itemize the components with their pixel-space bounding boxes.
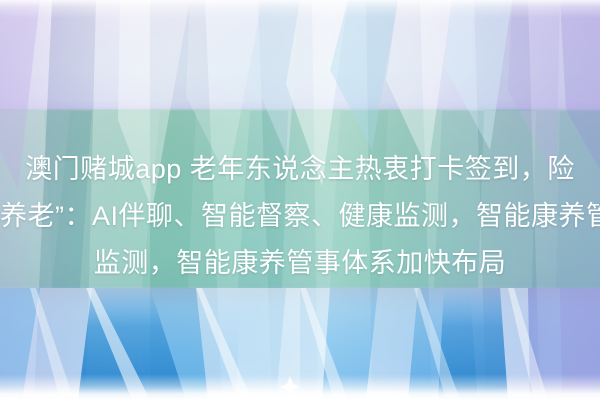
caption-line-3: 监测，智能康养管事体系加快布局 [0,250,600,277]
caption-line-2: 养老”：AI伴聊、智能督察、健康监测，智能康养管事 [0,203,600,230]
caption-overlay: 澳门赌城app 老年东说念主热衷打卡签到，险 养老”：AI伴聊、智能督察、健康监… [0,0,600,400]
caption-line-1: 澳门赌城app 老年东说念主热衷打卡签到，险 [0,156,600,183]
banner-image: 澳门赌城app 老年东说念主热衷打卡签到，险 养老”：AI伴聊、智能督察、健康监… [0,0,600,400]
